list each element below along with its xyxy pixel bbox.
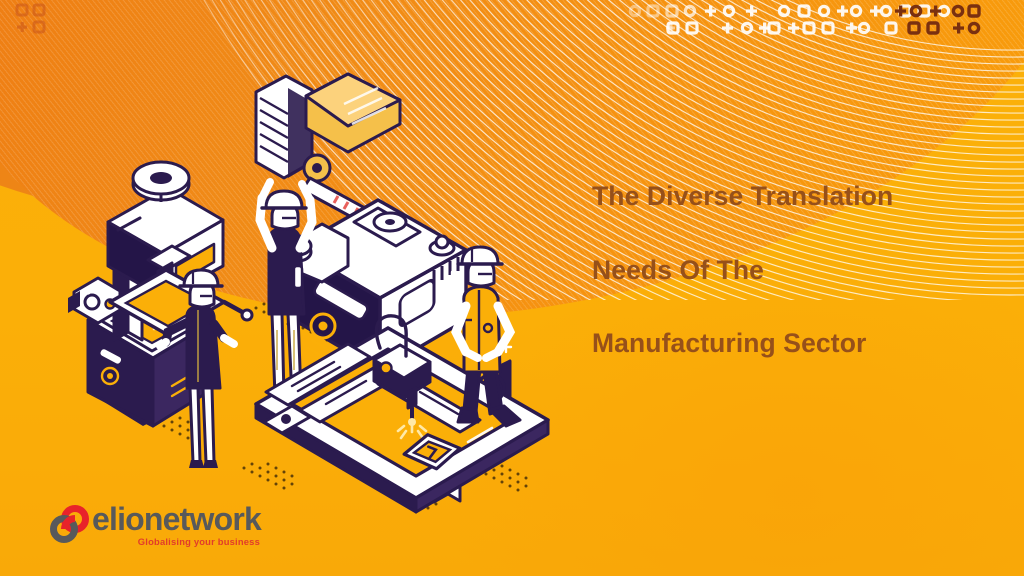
drill-press-machine — [68, 162, 252, 440]
manufacturing-illustration — [48, 70, 608, 530]
logo-wordmark: elionetwork — [92, 503, 261, 535]
brand-logo[interactable]: elionetwork Globalising your business — [44, 503, 261, 547]
headline-line-3: Manufacturing Sector — [592, 330, 992, 357]
headline-line-1: The Diverse Translation — [592, 183, 992, 210]
logo-tagline: Globalising your business — [92, 537, 261, 546]
page-title: The Diverse Translation Needs Of The Man… — [592, 183, 992, 357]
logo-mark-icon — [44, 503, 96, 547]
headline-line-2: Needs Of The — [592, 257, 992, 284]
slide-banner: The Diverse Translation Needs Of The Man… — [0, 0, 1024, 576]
